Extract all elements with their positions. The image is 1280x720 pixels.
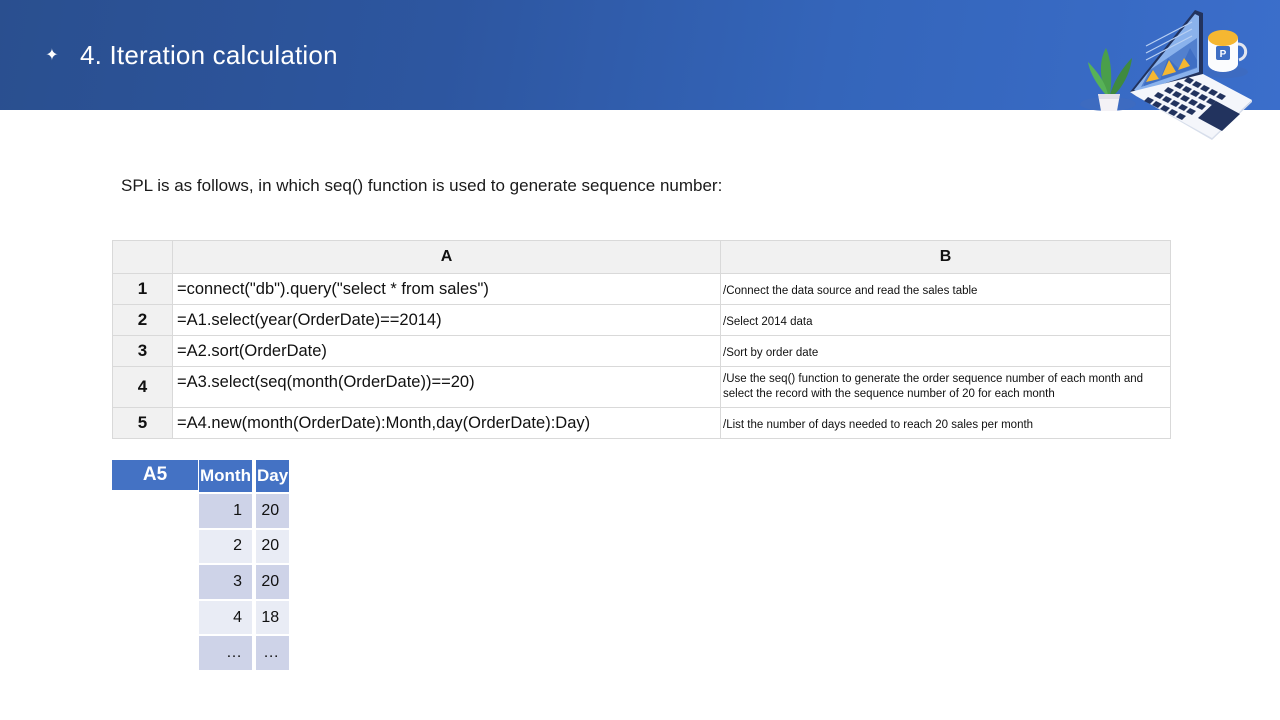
cell-month: 2: [199, 528, 256, 564]
table-row: 3 =A2.sort(OrderDate) /Sort by order dat…: [113, 336, 1171, 367]
cell-b[interactable]: /Connect the data source and read the sa…: [721, 274, 1171, 305]
cell-day: …: [256, 634, 289, 670]
result-table: Month Day 1 20 2 20 3 20 4 18 …: [199, 460, 289, 670]
row-index: 4: [113, 367, 173, 408]
plant-icon: [1088, 48, 1132, 111]
column-header-day: Day: [256, 460, 289, 492]
table-header-row: A B: [113, 241, 1171, 274]
row-index: 2: [113, 305, 173, 336]
laptop-base-icon: [1130, 74, 1252, 140]
isometric-laptop-plant-mug-illustration: P: [1040, 0, 1280, 160]
spl-code-table: A B 1 =connect("db").query("select * fro…: [112, 240, 1171, 439]
laptop-icon: [1130, 10, 1203, 96]
table-row: 5 =A4.new(month(OrderDate):Month,day(Ord…: [113, 408, 1171, 439]
cell-month: 1: [199, 492, 256, 528]
page-title: 4. Iteration calculation: [80, 38, 338, 72]
intro-paragraph: SPL is as follows, in which seq() functi…: [121, 174, 722, 198]
table-row: 1 =connect("db").query("select * from sa…: [113, 274, 1171, 305]
four-point-star-icon: ✦: [40, 44, 64, 68]
cell-month: 3: [199, 563, 256, 599]
result-row: 1 20: [199, 492, 289, 528]
result-row: 4 18: [199, 599, 289, 635]
result-row: … …: [199, 634, 289, 670]
table-row: 4 =A3.select(seq(month(OrderDate))==20) …: [113, 367, 1171, 408]
cell-b[interactable]: /Select 2014 data: [721, 305, 1171, 336]
cell-a[interactable]: =connect("db").query("select * from sale…: [173, 274, 721, 305]
page-header-banner: ✦ 4. Iteration calculation: [0, 0, 1280, 110]
result-row: 2 20: [199, 528, 289, 564]
cell-b[interactable]: /Sort by order date: [721, 336, 1171, 367]
cell-b[interactable]: /Use the seq() function to generate the …: [721, 367, 1171, 408]
coffee-mug-icon: P: [1208, 30, 1246, 72]
cell-month: …: [199, 634, 256, 670]
result-header-row: Month Day: [199, 460, 289, 492]
cell-day: 20: [256, 492, 289, 528]
cell-day: 20: [256, 563, 289, 599]
cell-month: 4: [199, 599, 256, 635]
svg-text:P: P: [1220, 49, 1227, 60]
result-cell-badge: A5: [112, 460, 198, 490]
cell-b[interactable]: /List the number of days needed to reach…: [721, 408, 1171, 439]
trackpad-icon: [1198, 101, 1240, 131]
cell-a[interactable]: =A4.new(month(OrderDate):Month,day(Order…: [173, 408, 721, 439]
cell-day: 18: [256, 599, 289, 635]
column-header-b: B: [721, 241, 1171, 274]
row-index: 5: [113, 408, 173, 439]
row-index: 1: [113, 274, 173, 305]
cell-a[interactable]: =A3.select(seq(month(OrderDate))==20): [173, 367, 721, 408]
cell-day: 20: [256, 528, 289, 564]
chart-screen-icon: [1141, 22, 1197, 87]
column-header-index: [113, 241, 173, 274]
table-row: 2 =A1.select(year(OrderDate)==2014) /Sel…: [113, 305, 1171, 336]
result-row: 3 20: [199, 563, 289, 599]
cell-a[interactable]: =A2.sort(OrderDate): [173, 336, 721, 367]
cell-a[interactable]: =A1.select(year(OrderDate)==2014): [173, 305, 721, 336]
row-index: 3: [113, 336, 173, 367]
column-header-month: Month: [199, 460, 256, 492]
column-header-a: A: [173, 241, 721, 274]
